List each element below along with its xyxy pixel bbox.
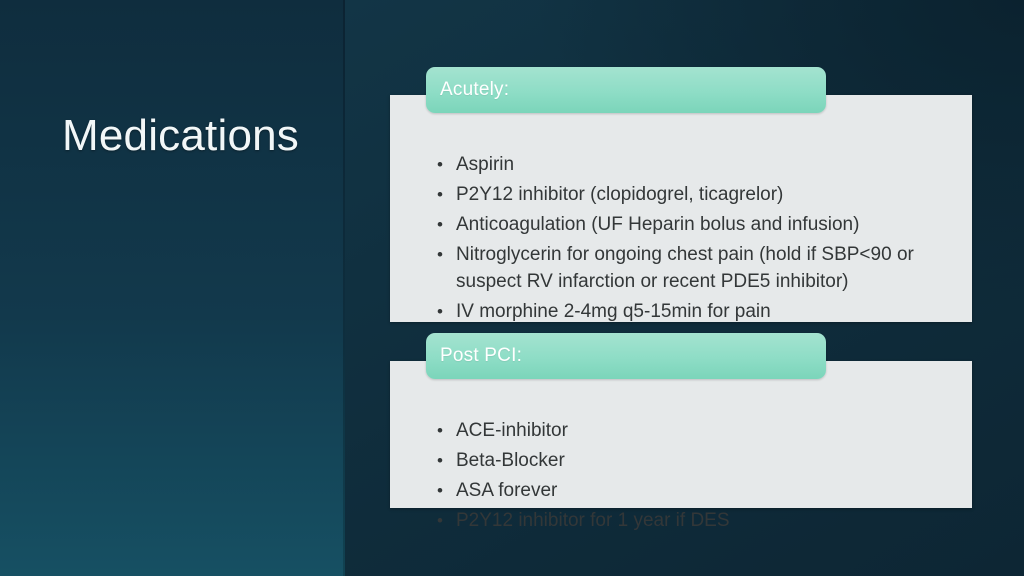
list-item: P2Y12 inhibitor for 1 year if DES (390, 507, 950, 534)
list-item: ASA forever (390, 477, 950, 504)
list-item: Anticoagulation (UF Heparin bolus and in… (390, 211, 950, 238)
list-item: P2Y12 inhibitor (clopidogrel, ticagrelor… (390, 181, 950, 208)
list-item: ACE-inhibitor (390, 417, 950, 444)
list-item: Beta-Blocker (390, 447, 950, 474)
bullet-list-post-pci: ACE-inhibitor Beta-Blocker ASA forever P… (390, 417, 950, 537)
list-item: Nitroglycerin for ongoing chest pain (ho… (390, 241, 950, 295)
section-header-label: Acutely: (426, 79, 509, 101)
card-body-post-pci: ACE-inhibitor Beta-Blocker ASA forever P… (390, 361, 972, 508)
slide-left-panel (0, 0, 345, 576)
list-item: IV morphine 2-4mg q5-15min for pain (390, 298, 950, 325)
slide-content-area: Aspirin P2Y12 inhibitor (clopidogrel, ti… (345, 0, 1024, 576)
list-item: Aspirin (390, 151, 950, 178)
page-title: Medications (62, 112, 342, 160)
presentation-slide: Medications Aspirin P2Y12 inhibitor (clo… (0, 0, 1024, 576)
section-header-label: Post PCI: (426, 345, 522, 367)
section-header-acutely: Acutely: (426, 67, 826, 113)
bullet-list-acutely: Aspirin P2Y12 inhibitor (clopidogrel, ti… (390, 151, 950, 358)
section-header-post-pci: Post PCI: (426, 333, 826, 379)
card-body-acutely: Aspirin P2Y12 inhibitor (clopidogrel, ti… (390, 95, 972, 322)
